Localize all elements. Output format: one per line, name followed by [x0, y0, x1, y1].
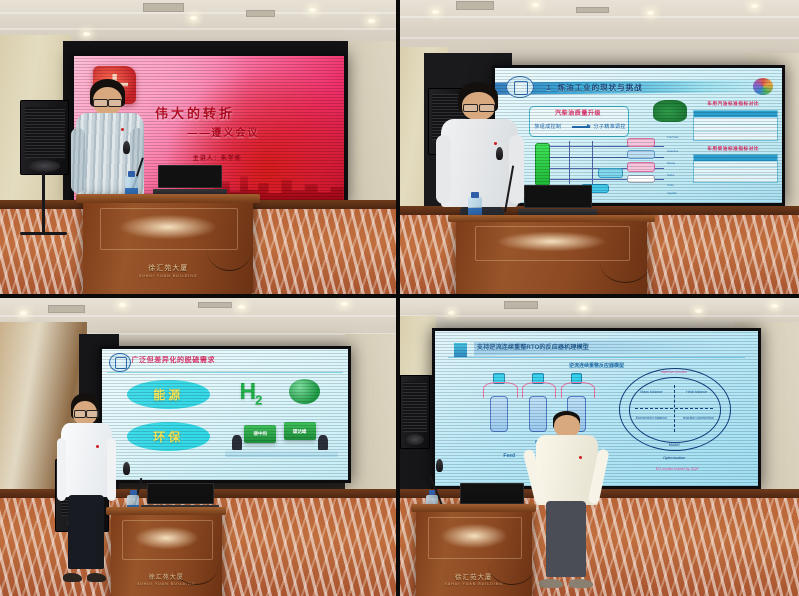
worker-silhouette [232, 435, 242, 451]
oval-environment: 环保 [127, 422, 210, 451]
slide-section-number: 1 [546, 83, 551, 92]
microphone-icon [496, 147, 503, 160]
slide-subtitle: ——遵义会议 [187, 124, 338, 139]
ceiling-light [448, 311, 455, 315]
lectern-crest [133, 526, 200, 551]
product-label: Gasoline [667, 149, 678, 153]
lectern-crest [494, 231, 609, 252]
panel-top-left[interactable]: 伟大的转折 ——遵义会议 主讲人：朱学栋 [0, 0, 396, 294]
slide-presenter: 主讲人：朱学栋 [193, 153, 333, 162]
table1-title: 车用汽油标准指标对比 [690, 101, 776, 107]
standards-table-diesel [693, 154, 778, 183]
panel-bottom-right[interactable]: 支持逆流连续重整RTO的反应器机理模型 逆流连续重整反应器模型 R-2 Feed [400, 298, 799, 596]
slide-title: 支持逆流连续重整RTO的反应器机理模型 [477, 342, 723, 351]
quadrant-mass-balance: Mass balance [632, 390, 671, 394]
ceiling-light [20, 311, 27, 315]
table2-title: 车用柴油标准指标对比 [690, 146, 776, 152]
university-logo-icon [109, 353, 131, 372]
led-screen[interactable]: 广泛但差异化的脱硫需求 能源 环保 H2 碳中和 碳达峰 [99, 346, 351, 483]
ceiling-light [751, 4, 758, 8]
box-right-label: 分子精准调控 [590, 123, 630, 130]
oval-energy: 能源 [127, 380, 210, 409]
quadrant-heat-balance: Heat balance [677, 390, 716, 394]
panel-bottom-left[interactable]: 广泛但差异化的脱硫需求 能源 环保 H2 碳中和 碳达峰 [0, 298, 396, 596]
loudspeaker [20, 100, 70, 176]
product-label: Asphalt [667, 191, 676, 195]
lectern-name-en: XUHUI YUAN BUILDING [97, 274, 240, 278]
reactor-vessel [490, 396, 508, 432]
product-label: Fuel Gas [667, 135, 678, 139]
panel-top-right[interactable]: 1 炼油工业的现状与挑战 汽柴油质量升级 族组成控制 分子精准调控 Crude [400, 0, 799, 294]
presenter [532, 411, 604, 584]
box-title: 汽柴油质量升级 [529, 108, 627, 117]
box-left-label: 族组成控制 [526, 123, 569, 130]
ceiling-light [695, 309, 702, 313]
h2o-formula: H2 [239, 378, 261, 408]
microphone-icon [123, 462, 130, 475]
slide-title: 1 炼油工业的现状与挑战 [546, 80, 770, 95]
worker-silhouette [318, 435, 328, 451]
ceiling-light [83, 32, 90, 36]
slide-title-text: 炼油工业的现状与挑战 [558, 82, 643, 93]
circle-caption-optimisation: Optimisation [635, 455, 713, 460]
ceiling-light [432, 10, 439, 14]
ground-plane [225, 450, 338, 458]
ceiling-light [190, 16, 197, 20]
ceiling-light [771, 304, 778, 308]
ceiling-light [309, 8, 316, 12]
lectern-crest [117, 214, 219, 240]
presenter [55, 393, 118, 578]
quadrant-reaction-connection: reaction connection [677, 416, 719, 420]
microphone-icon [436, 459, 443, 472]
product-label: Diesel [667, 161, 675, 165]
title-accent-bar [454, 343, 467, 357]
lectern-name-cn: 徐汇苑大厦 [455, 574, 493, 581]
lectern-name-cn: 徐汇苑大厦 [148, 265, 188, 272]
loudspeaker [400, 375, 430, 449]
quadrant-momentum-balance: Momentum balance [629, 416, 674, 420]
ceiling-light [532, 3, 539, 7]
green-car-graphic [653, 100, 687, 122]
circle-caption-model: Model [642, 442, 707, 447]
product-label: Sulfur [667, 173, 674, 177]
carbon-neutral-box: 碳中和 [244, 425, 276, 443]
lab-logo-icon [753, 78, 773, 94]
ceiling-light [238, 305, 245, 309]
objective-function-label: objective function [629, 370, 719, 374]
slide-refining-challenges: 1 炼油工业的现状与挑战 汽柴油质量升级 族组成控制 分子精准调控 Crude [495, 68, 782, 203]
globe-icon [289, 379, 321, 404]
slide-title: 伟大的转折 [155, 103, 322, 122]
distillation-column [535, 143, 550, 186]
ceiling-light [119, 303, 126, 307]
carbon-peak-box: 碳达峰 [284, 422, 316, 440]
ceiling-light [368, 19, 375, 23]
standards-table-gasoline [693, 110, 778, 142]
microphone-icon [123, 141, 130, 154]
photo-collage: 伟大的转折 ——遵义会议 主讲人：朱学栋 [0, 0, 799, 596]
slide-subtitle: 逆流连续重整反应器模型 [538, 362, 654, 369]
product-label: Coke [667, 183, 674, 187]
ceiling-light [580, 306, 587, 310]
circle-caption-eo-model: EO model solved by SQP [616, 467, 739, 471]
ceiling-light [341, 302, 348, 306]
slide-title: 广泛但差异化的脱硫需求 [131, 355, 278, 365]
slide-desulfurization-demand: 广泛但差异化的脱硫需求 能源 环保 H2 碳中和 碳达峰 [102, 349, 348, 480]
